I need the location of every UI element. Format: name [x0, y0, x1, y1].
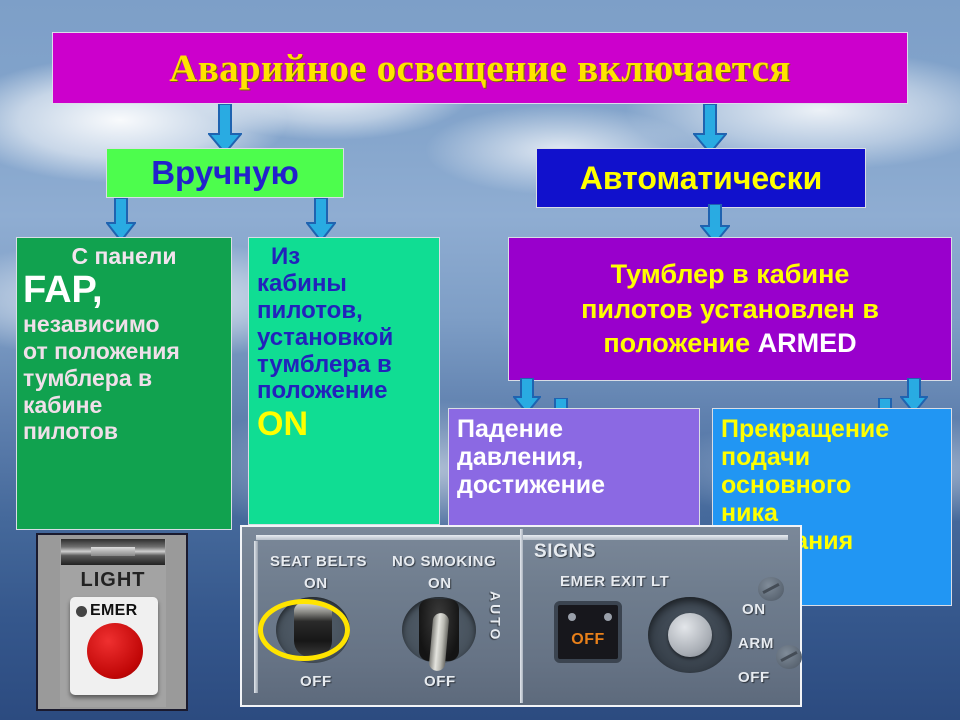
box-armed-line-3-prefix: положение	[603, 328, 757, 358]
cockpit-overhead-panel-photo: SEAT BELTS ON OFF NO SMOKING ON AUTO OFF…	[240, 525, 802, 707]
arrow-title-to-automatic	[693, 104, 727, 154]
box-pressure-line-2: достижение	[457, 471, 693, 499]
branch-manual: Вручную	[106, 148, 344, 198]
box-cockpit-line-5: положение	[257, 378, 433, 405]
indicator-pips	[568, 613, 612, 621]
emer-exit-lt-knob[interactable]	[648, 597, 732, 673]
arrow-manual-to-fap	[106, 198, 136, 242]
knob-on-label: ON	[742, 601, 766, 618]
red-indicator-icon	[87, 623, 143, 679]
box-armed-text: Тумблер в кабине пилотов установлен в по…	[581, 257, 879, 361]
screw-icon	[758, 577, 784, 601]
box-cockpit-state-on: ON	[257, 405, 433, 443]
box-armed: Тумблер в кабине пилотов установлен в по…	[508, 237, 952, 381]
box-fap-line-0: независимо	[23, 312, 225, 338]
slide-canvas: Аварийное освещение включается Вручную А…	[0, 0, 960, 720]
box-fap-panel: С панели FAP, независимо от положения ту…	[16, 237, 232, 530]
box-power-line-2: основного	[721, 471, 945, 499]
emer-exit-lt-indicator-text: OFF	[558, 631, 618, 649]
emer-exit-lt-indicator[interactable]: OFF	[554, 601, 622, 663]
fap-hinge	[61, 539, 165, 565]
box-power-line-3: ника	[721, 499, 945, 527]
box-fap-emphasis: FAP,	[23, 269, 225, 312]
arrow-title-to-manual	[208, 104, 242, 154]
signs-title: SIGNS	[534, 541, 596, 563]
seat-belts-on-label: ON	[304, 575, 328, 592]
box-power-line-0: Прекращение	[721, 415, 945, 443]
box-fap-line-4: пилотов	[23, 419, 225, 445]
box-pressure-drop: Падение давления, достижение	[448, 408, 700, 536]
box-armed-line-1: Тумблер в кабине	[611, 259, 850, 289]
box-cockpit-line-0: Из	[257, 244, 433, 271]
fap-emer-row: EMER	[76, 602, 156, 620]
fap-light-label: LIGHT	[38, 569, 188, 592]
no-smoking-auto-label: AUTO	[488, 591, 502, 642]
no-smoking-title: NO SMOKING	[392, 553, 496, 570]
box-power-line-1: подачи	[721, 443, 945, 471]
box-fap-header: С панели	[23, 244, 225, 270]
panel-divider	[520, 529, 523, 703]
emer-exit-lt-label: EMER EXIT LT	[560, 573, 669, 590]
screw-icon	[776, 645, 802, 669]
branch-automatic-label: Автоматически	[580, 160, 823, 197]
page-title-text: Аварийное освещение включается	[169, 46, 790, 91]
panel-left-rail	[254, 541, 258, 693]
box-cockpit-line-4: тумблера в	[257, 352, 433, 379]
branch-manual-label: Вручную	[151, 154, 299, 192]
box-fap-line-1: от положения	[23, 339, 225, 365]
knob-off-label: OFF	[738, 669, 770, 686]
box-pressure-line-1: давления,	[457, 443, 693, 471]
seat-belts-title: SEAT BELTS	[270, 553, 367, 570]
box-cockpit-line-1: кабины	[257, 271, 433, 298]
fap-emer-button[interactable]: EMER	[70, 597, 158, 695]
box-fap-line-2: тумблера в	[23, 366, 225, 392]
arrow-manual-to-cockpit	[306, 198, 336, 242]
branch-automatic: Автоматически	[536, 148, 866, 208]
highlight-ellipse-annotation	[258, 599, 350, 661]
no-smoking-off-label: OFF	[424, 673, 456, 690]
knob-arm-label: ARM	[738, 635, 774, 652]
fap-emer-label: EMER	[90, 602, 137, 620]
box-armed-line-2: пилотов установлен в	[581, 294, 879, 324]
pip-icon	[604, 613, 612, 621]
fap-emergency-light-photo: LIGHT EMER	[36, 533, 188, 711]
no-smoking-toggle-icon[interactable]	[419, 599, 459, 661]
box-fap-line-3: кабине	[23, 393, 225, 419]
no-smoking-on-label: ON	[428, 575, 452, 592]
auto-letters: AUTO	[488, 591, 502, 642]
box-cockpit-line-2: пилотов,	[257, 298, 433, 325]
knob-cap-icon[interactable]	[668, 613, 712, 657]
box-cockpit-switch: Из кабины пилотов, установкой тумблера в…	[248, 237, 440, 525]
box-armed-state: ARMED	[758, 328, 857, 358]
dot-icon	[76, 606, 87, 617]
pip-icon	[568, 613, 576, 621]
page-title: Аварийное освещение включается	[52, 32, 908, 104]
no-smoking-switch[interactable]	[402, 597, 476, 663]
box-pressure-line-0: Падение	[457, 415, 693, 443]
seat-belts-off-label: OFF	[300, 673, 332, 690]
box-cockpit-line-3: установкой	[257, 325, 433, 352]
